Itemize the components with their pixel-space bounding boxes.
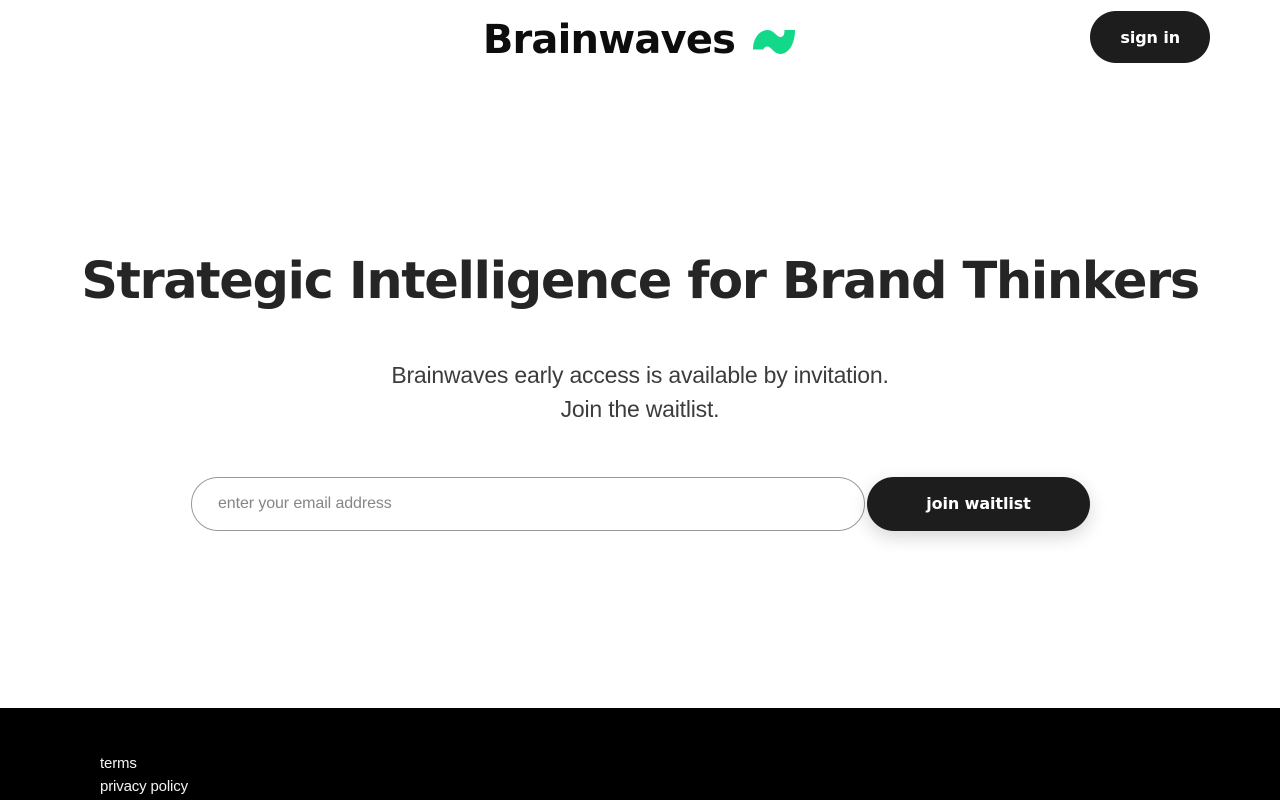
brand-logo[interactable]: Brainwaves bbox=[0, 0, 1280, 80]
hero-subcopy: Brainwaves early access is available by … bbox=[391, 358, 888, 426]
hero-section: Strategic Intelligence for Brand Thinker… bbox=[0, 80, 1280, 708]
list-item: privacy policy bbox=[100, 775, 188, 798]
site-header: Brainwaves sign in bbox=[0, 0, 1280, 80]
subcopy-line-2: Join the waitlist. bbox=[561, 396, 720, 422]
email-input[interactable] bbox=[191, 477, 865, 531]
list-item: terms bbox=[100, 752, 188, 775]
join-waitlist-button[interactable]: join waitlist bbox=[867, 477, 1090, 531]
footer-link-list: terms privacy policy contact us bbox=[100, 752, 188, 800]
subcopy-line-1: Brainwaves early access is available by … bbox=[391, 362, 888, 388]
footer-link-terms[interactable]: terms bbox=[100, 755, 137, 772]
wave-icon bbox=[751, 23, 797, 57]
sign-in-button[interactable]: sign in bbox=[1090, 11, 1210, 63]
footer-link-privacy-policy[interactable]: privacy policy bbox=[100, 778, 188, 795]
site-footer: terms privacy policy contact us bbox=[0, 708, 1280, 800]
waitlist-form: join waitlist bbox=[191, 477, 1089, 531]
brand-name: Brainwaves bbox=[483, 20, 735, 60]
page-title: Strategic Intelligence for Brand Thinker… bbox=[81, 255, 1199, 309]
